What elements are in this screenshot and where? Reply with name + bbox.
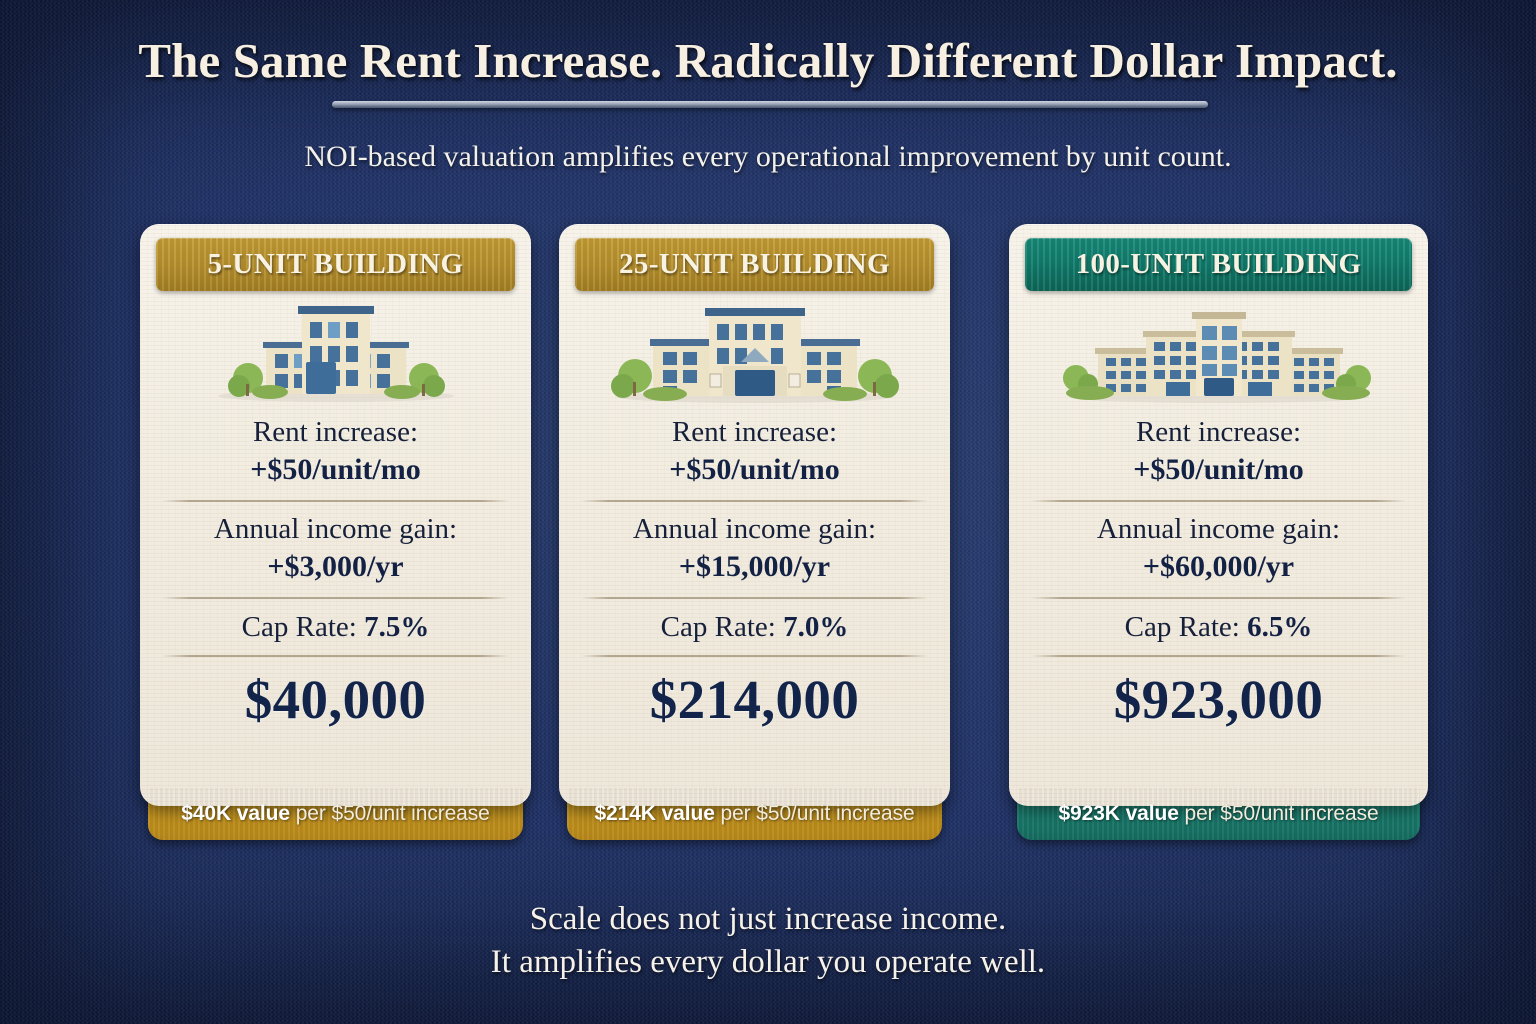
footer-strong-100-unit: $923K value [1058,802,1178,825]
caption-line-1: Scale does not just increase income. [0,898,1536,941]
large-apartment-complex-icon [1054,296,1384,404]
card-footer-text-100-unit: $923K value per $50/unit increase [1058,802,1378,826]
metric-label-rent-increase-25: Rent increase: [559,416,950,449]
metric-label-rent-increase-100: Rent increase: [1009,416,1428,449]
metric-cap-rate-line-5: Cap Rate: 7.5% [140,610,531,645]
footer-rest-100-unit: per $50/unit increase [1179,802,1379,825]
card-title-100-unit: 100-UNIT BUILDING [1076,248,1362,281]
metric-label-income-5: Annual income gain: [140,513,531,546]
building-card-100-unit[interactable]: $923K value per $50/unit increase 100-UN… [1009,224,1428,840]
mid-size-apartment-building-icon [605,296,905,404]
footer-strong-5-unit: $40K value [181,802,290,825]
metric-cap-rate-25-unit: Cap Rate: 7.0% [559,610,950,645]
headline-value-5-unit: $40,000 [140,671,531,729]
card-title-25-unit: 25-UNIT BUILDING [619,248,890,281]
metric-income-gain-100-unit: Annual income gain: +$60,000/yr [1009,513,1428,586]
cap-rate-label-5: Cap Rate: [242,611,364,643]
metric-cap-rate-line-100: Cap Rate: 6.5% [1009,610,1428,645]
cap-rate-value-5: 7.5% [364,611,429,643]
footer-strong-25-unit: $214K value [594,802,714,825]
metric-label-income-100: Annual income gain: [1009,513,1428,546]
metric-cap-rate-line-25: Cap Rate: 7.0% [559,610,950,645]
metric-divider-1-5unit [162,500,509,502]
headline-value-100-unit: $923,000 [1009,671,1428,729]
card-metrics-5-unit: Rent increase: +$50/unit/mo Annual incom… [140,416,531,806]
page-subtitle: NOI-based valuation amplifies every oper… [0,140,1536,174]
bottom-caption: Scale does not just increase income. It … [0,898,1536,984]
cap-rate-label-25: Cap Rate: [661,611,783,643]
metric-rent-increase-25-unit: Rent increase: +$50/unit/mo [559,416,950,489]
infographic-frame: The Same Rent Increase. Radically Differ… [0,0,1536,1024]
page-title: The Same Rent Increase. Radically Differ… [0,32,1536,89]
card-footer-bar-5-unit: $40K value per $50/unit increase [148,788,523,840]
metric-divider-1-25unit [581,500,928,502]
cap-rate-value-100: 6.5% [1247,611,1312,643]
metric-label-income-25: Annual income gain: [559,513,950,546]
metric-divider-3-100unit [1031,655,1406,657]
caption-line-2: It amplifies every dollar you operate we… [0,941,1536,984]
card-header-5-unit: 5-UNIT BUILDING [156,238,515,291]
metric-divider-3-25unit [581,655,928,657]
card-metrics-25-unit: Rent increase: +$50/unit/mo Annual incom… [559,416,950,806]
metric-value-rent-increase-100: +$50/unit/mo [1009,451,1428,489]
metric-divider-2-100unit [1031,597,1406,599]
metric-value-income-5: +$3,000/yr [140,548,531,586]
headline-value-25-unit: $214,000 [559,671,950,729]
building-illustration-5-unit [140,296,531,408]
metric-value-rent-increase-25: +$50/unit/mo [559,451,950,489]
card-header-100-unit: 100-UNIT BUILDING [1025,238,1412,291]
building-card-5-unit[interactable]: $40K value per $50/unit increase 5-UNIT … [140,224,531,840]
title-divider-rule [332,101,1208,108]
metric-label-rent-increase-5: Rent increase: [140,416,531,449]
card-footer-text-25-unit: $214K value per $50/unit increase [594,802,914,826]
metric-income-gain-25-unit: Annual income gain: +$15,000/yr [559,513,950,586]
card-footer-bar-25-unit: $214K value per $50/unit increase [567,788,942,840]
small-apartment-building-icon [206,296,466,404]
card-title-5-unit: 5-UNIT BUILDING [207,248,463,281]
cap-rate-value-25: 7.0% [783,611,848,643]
metric-divider-3-5unit [162,655,509,657]
metric-value-rent-increase-5: +$50/unit/mo [140,451,531,489]
metric-divider-2-5unit [162,597,509,599]
footer-rest-5-unit: per $50/unit increase [290,802,490,825]
metric-value-income-25: +$15,000/yr [559,548,950,586]
card-body-100-unit: 100-UNIT BUILDING [1009,224,1428,806]
metric-cap-rate-100-unit: Cap Rate: 6.5% [1009,610,1428,645]
card-footer-bar-100-unit: $923K value per $50/unit increase [1017,788,1420,840]
footer-rest-25-unit: per $50/unit increase [715,802,915,825]
metric-rent-increase-100-unit: Rent increase: +$50/unit/mo [1009,416,1428,489]
building-illustration-100-unit [1009,296,1428,408]
card-metrics-100-unit: Rent increase: +$50/unit/mo Annual incom… [1009,416,1428,806]
metric-cap-rate-5-unit: Cap Rate: 7.5% [140,610,531,645]
card-header-25-unit: 25-UNIT BUILDING [575,238,934,291]
metric-divider-2-25unit [581,597,928,599]
building-card-25-unit[interactable]: $214K value per $50/unit increase 25-UNI… [559,224,950,840]
card-body-25-unit: 25-UNIT BUILDING [559,224,950,806]
cap-rate-label-100: Cap Rate: [1125,611,1247,643]
card-footer-text-5-unit: $40K value per $50/unit increase [181,802,490,826]
metric-income-gain-5-unit: Annual income gain: +$3,000/yr [140,513,531,586]
card-body-5-unit: 5-UNIT BUILDING [140,224,531,806]
metric-divider-1-100unit [1031,500,1406,502]
building-illustration-25-unit [559,296,950,408]
metric-rent-increase-5-unit: Rent increase: +$50/unit/mo [140,416,531,489]
comparison-card-group: $40K value per $50/unit increase 5-UNIT … [140,224,1428,840]
metric-value-income-100: +$60,000/yr [1009,548,1428,586]
